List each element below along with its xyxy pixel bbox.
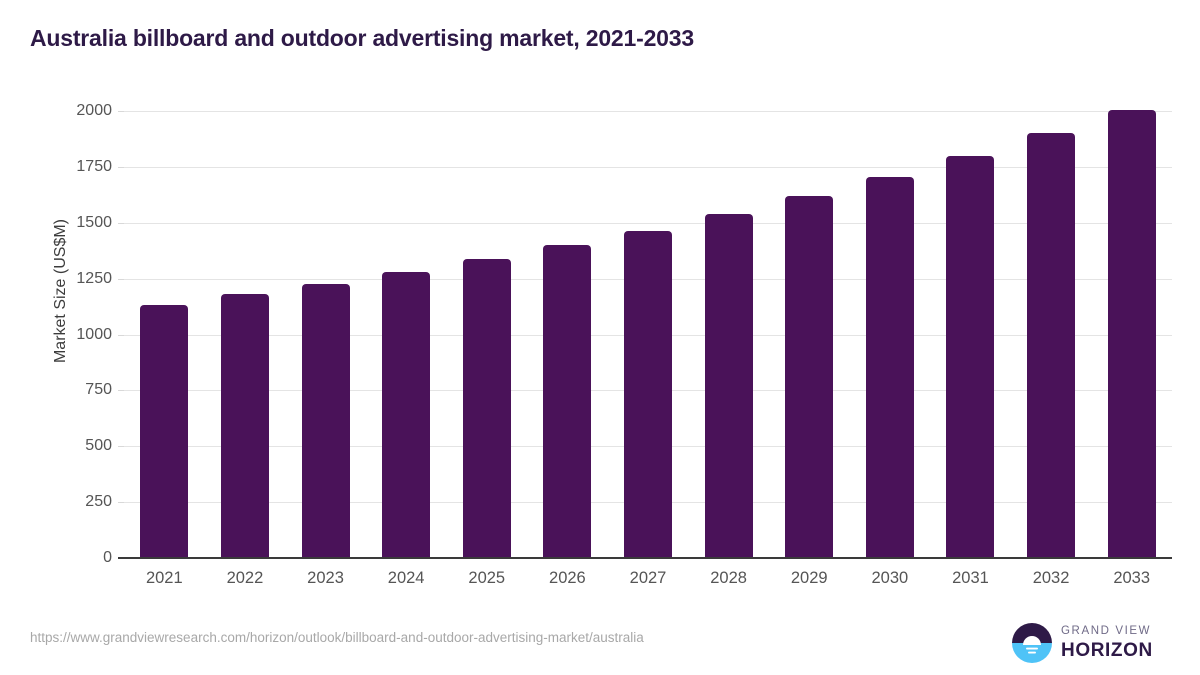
source-url-text[interactable]: https://www.grandviewresearch.com/horizo… — [30, 630, 644, 645]
chart-page: Australia billboard and outdoor advertis… — [0, 0, 1200, 675]
bar-2032[interactable] — [1027, 133, 1075, 558]
x-axis-tick-label: 2026 — [527, 569, 607, 588]
bar-2023[interactable] — [302, 284, 350, 558]
y-axis-title: Market Size (US$M) — [52, 166, 70, 416]
y-axis-tick-label: 250 — [22, 494, 112, 510]
y-axis-tick-label: 1750 — [22, 159, 112, 175]
x-axis-tick-label: 2030 — [850, 569, 930, 588]
y-axis-tick-label: 500 — [22, 438, 112, 454]
bar-2025[interactable] — [463, 259, 511, 558]
gridline — [124, 167, 1172, 168]
y-axis-tick-label: 750 — [22, 382, 112, 398]
chart-container: Market Size (US$M) 025050075010001250150… — [0, 0, 1200, 675]
y-axis-tick-label: 1000 — [22, 327, 112, 343]
bar-2024[interactable] — [382, 272, 430, 558]
logo-line-grand-view: GRAND VIEW — [1061, 626, 1153, 638]
plot-area — [124, 111, 1172, 558]
bar-2031[interactable] — [946, 156, 994, 558]
bar-2029[interactable] — [785, 196, 833, 558]
x-axis-tick-label: 2024 — [366, 569, 446, 588]
y-axis-tick-label: 0 — [22, 550, 112, 566]
bar-2021[interactable] — [140, 305, 188, 558]
x-axis-tick-label: 2033 — [1092, 569, 1172, 588]
bar-2027[interactable] — [624, 231, 672, 558]
grand-view-horizon-logo-icon — [1012, 623, 1052, 663]
x-axis-tick-label: 2021 — [124, 569, 204, 588]
y-axis-tick-label: 1500 — [22, 215, 112, 231]
x-axis-tick-label: 2022 — [205, 569, 285, 588]
y-axis-tick-label: 2000 — [22, 103, 112, 119]
bar-2033[interactable] — [1108, 110, 1156, 558]
bar-2030[interactable] — [866, 177, 914, 558]
x-axis-tick-label: 2028 — [689, 569, 769, 588]
gridline — [124, 111, 1172, 112]
logo-line-horizon: HORIZON — [1061, 641, 1153, 660]
x-axis-tick-label: 2029 — [769, 569, 849, 588]
brand-logo: GRAND VIEW HORIZON — [1012, 622, 1172, 664]
bar-2028[interactable] — [705, 214, 753, 558]
x-axis-tick-label: 2025 — [447, 569, 527, 588]
x-axis-tick-label: 2031 — [930, 569, 1010, 588]
x-axis-line — [118, 557, 1172, 559]
x-axis-tick-label: 2027 — [608, 569, 688, 588]
y-axis-tick-label: 1250 — [22, 271, 112, 287]
x-axis-tick-label: 2023 — [286, 569, 366, 588]
x-axis-tick-label: 2032 — [1011, 569, 1091, 588]
logo-wordmark: GRAND VIEW HORIZON — [1061, 626, 1153, 660]
bar-2022[interactable] — [221, 294, 269, 558]
gridline — [124, 223, 1172, 224]
bar-2026[interactable] — [543, 245, 591, 558]
